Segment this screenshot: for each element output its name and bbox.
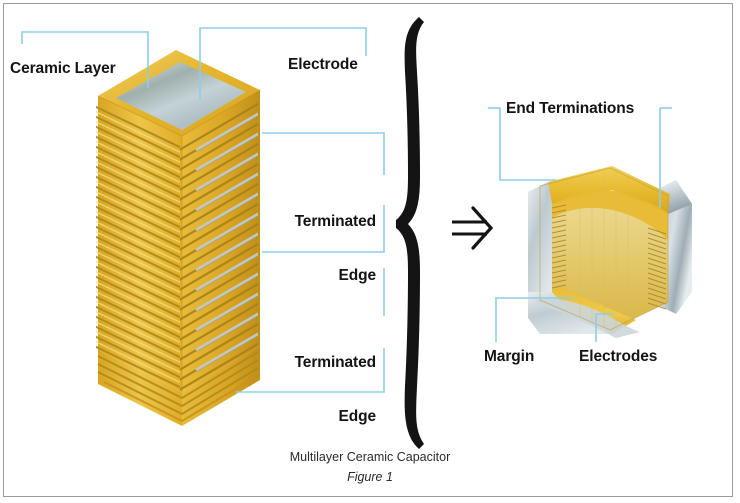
label-terminated-edge-upper-line2: Edge xyxy=(278,267,376,285)
chip-capacitor-illustration xyxy=(528,166,692,338)
figure-page: Ceramic Layer Electrode Terminated Edge … xyxy=(0,0,740,503)
label-end-terminations: End Terminations xyxy=(506,100,634,118)
figure-caption-title: Multilayer Ceramic Capacitor xyxy=(0,450,740,464)
label-terminated-edge-lower: Terminated Edge xyxy=(278,318,376,462)
curly-brace-shape xyxy=(396,17,424,449)
leader-end-terminations-left xyxy=(500,108,556,180)
label-terminated-edge-upper-line1: Terminated xyxy=(278,213,376,231)
label-terminated-edge-upper: Terminated Edge xyxy=(278,177,376,321)
label-terminated-edge-lower-line1: Terminated xyxy=(278,354,376,372)
label-electrodes: Electrodes xyxy=(579,348,657,366)
label-margin: Margin xyxy=(484,348,534,366)
label-ceramic-layer: Ceramic Layer xyxy=(10,60,116,78)
grouping-brace xyxy=(396,17,424,449)
layer-stack-illustration xyxy=(90,50,268,426)
label-terminated-edge-lower-line2: Edge xyxy=(278,408,376,426)
figure-caption-number: Figure 1 xyxy=(0,470,740,484)
label-electrode: Electrode xyxy=(288,56,358,74)
implies-arrow xyxy=(452,208,491,248)
leader-terminated-edge-upper-top xyxy=(262,133,384,175)
